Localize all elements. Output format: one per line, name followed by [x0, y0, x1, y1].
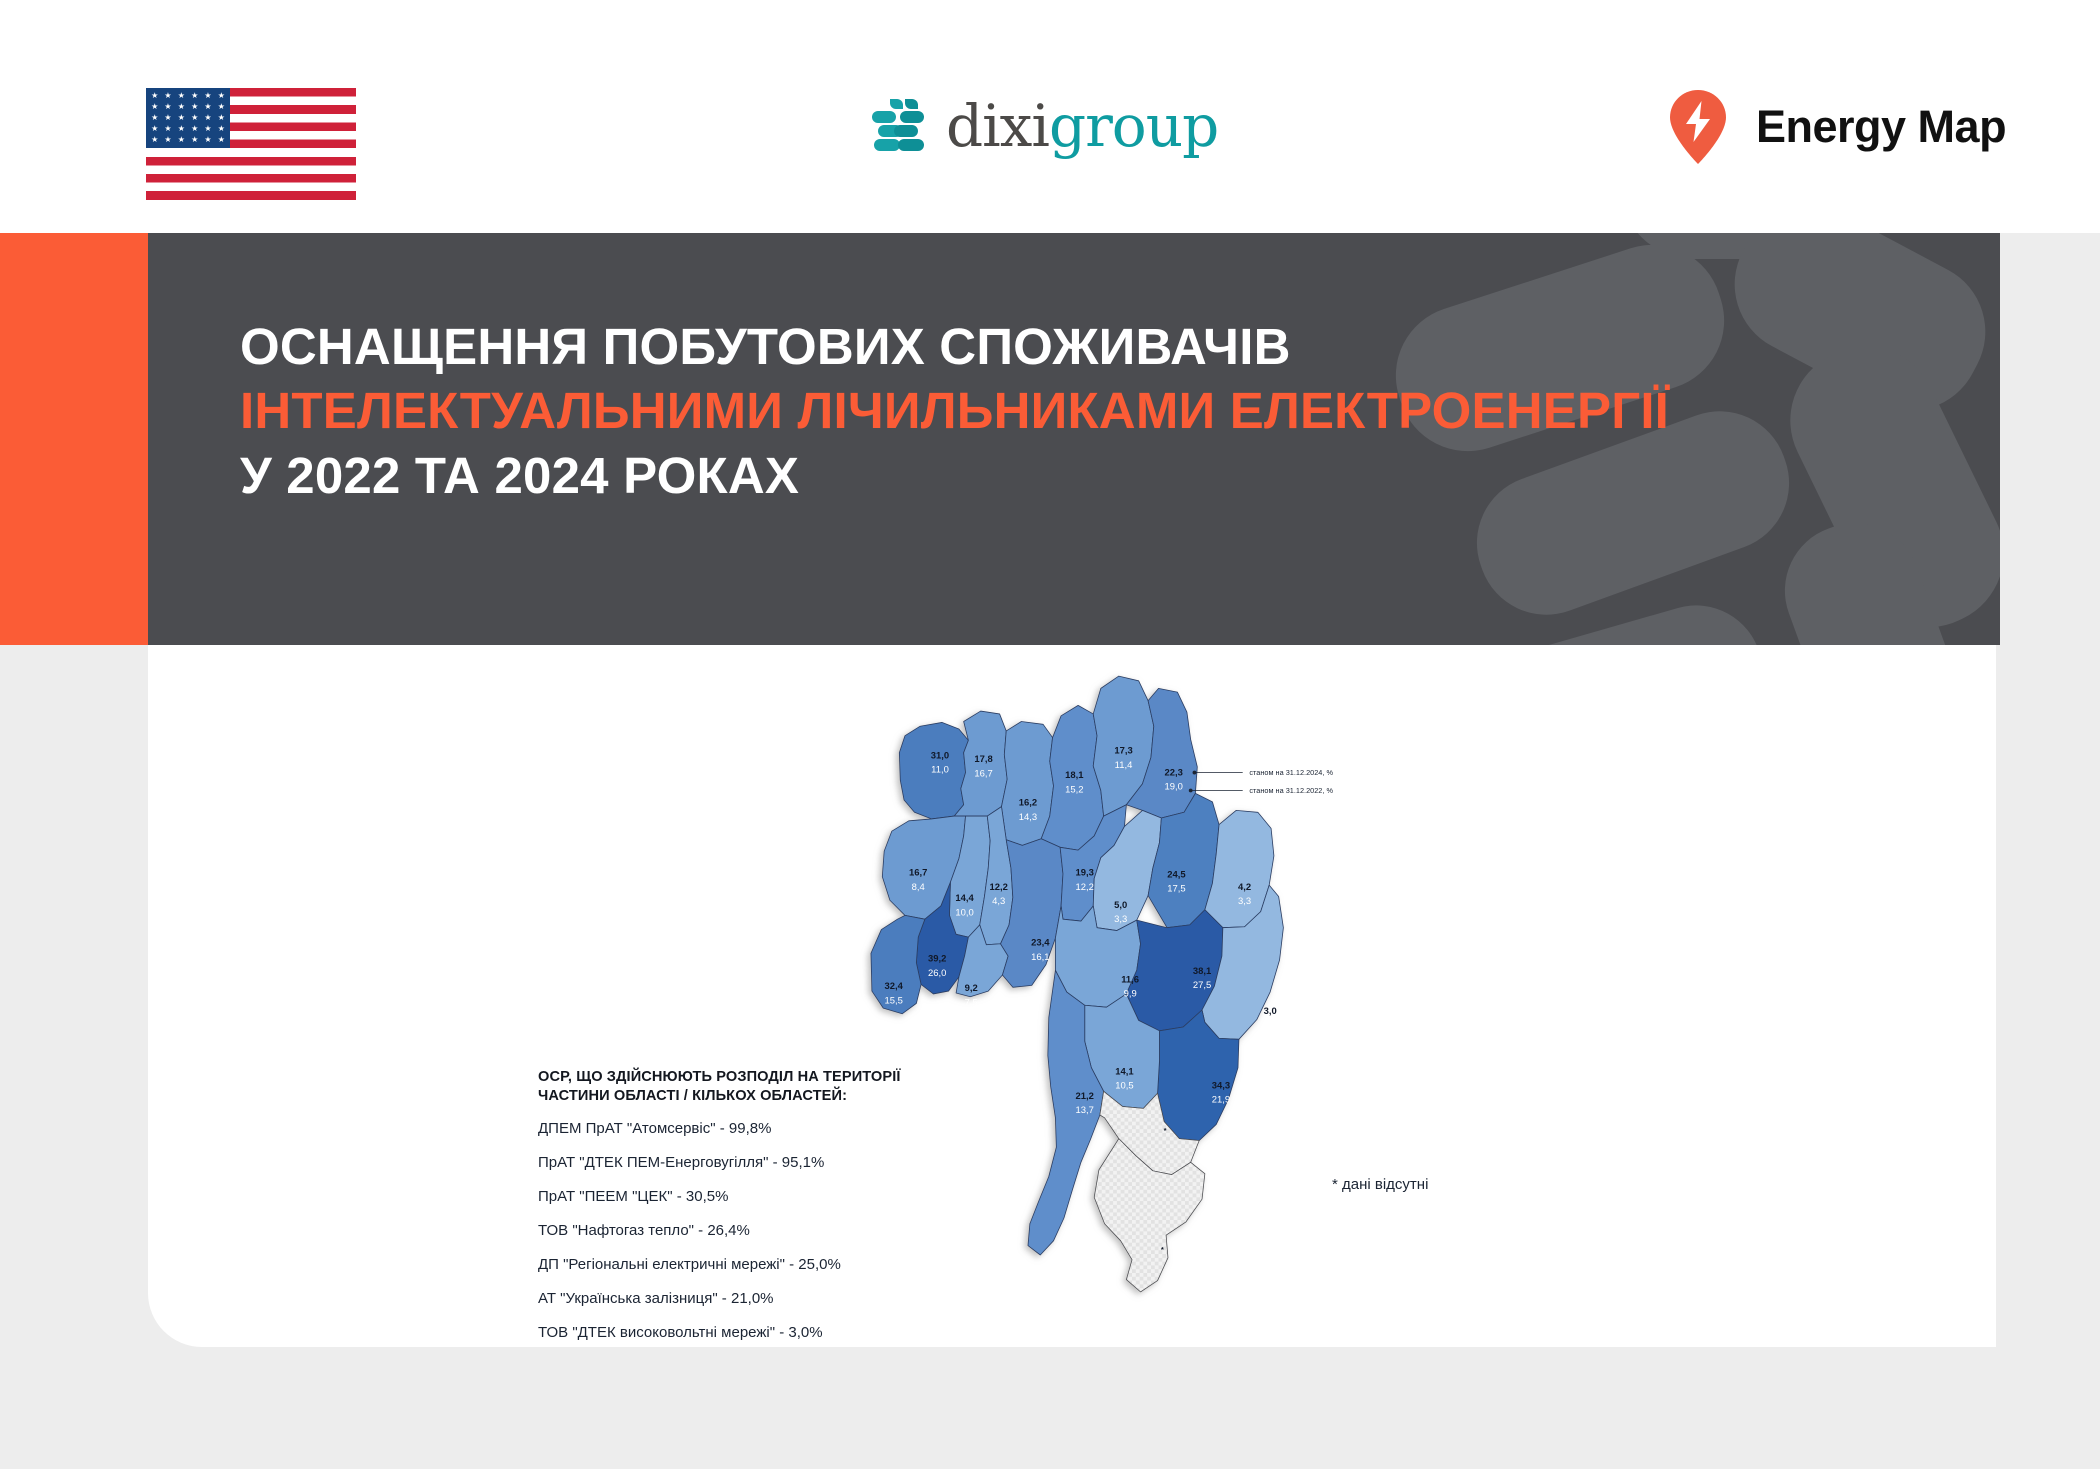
- lightning-pin-icon: [1666, 88, 1730, 166]
- svg-text:22,3: 22,3: [1164, 767, 1182, 778]
- dixigroup-mark-icon: [870, 95, 932, 157]
- svg-text:26,0: 26,0: [928, 968, 946, 979]
- svg-text:24,5: 24,5: [1167, 870, 1185, 881]
- operators-list: ДПЕМ ПрАТ "Атомсервіс" - 99,8% ПрАТ "ДТЕ…: [538, 1121, 958, 1340]
- svg-text:10,0: 10,0: [955, 907, 973, 918]
- energy-map-logo[interactable]: Energy Map: [1666, 88, 2006, 166]
- orange-accent-bar: [0, 233, 148, 645]
- dixi-text: dixi: [946, 92, 1049, 160]
- svg-text:31,0: 31,0: [931, 750, 949, 761]
- dixigroup-logo[interactable]: dixigroup: [870, 95, 1218, 157]
- svg-text:23,4: 23,4: [1031, 938, 1050, 949]
- svg-text:9,9: 9,9: [1124, 989, 1137, 1000]
- svg-text:21,2: 21,2: [1076, 1091, 1094, 1102]
- operator-item: ТОВ "ДТЕК високовольтні мережі" - 3,0%: [538, 1325, 958, 1340]
- svg-text:11,6: 11,6: [1121, 975, 1139, 986]
- svg-text:14,1: 14,1: [1115, 1066, 1133, 1077]
- svg-text:15,5: 15,5: [884, 995, 902, 1006]
- title-line-2: ІНТЕЛЕКТУАЛЬНИМИ ЛІЧИЛЬНИКАМИ ЕЛЕКТРОЕНЕ…: [240, 379, 1940, 443]
- svg-text:10,5: 10,5: [1115, 1081, 1133, 1092]
- svg-text:16,2: 16,2: [1019, 798, 1037, 809]
- svg-text:3,3: 3,3: [1114, 914, 1127, 925]
- svg-text:14,4: 14,4: [955, 893, 974, 904]
- svg-text:2,4: 2,4: [1264, 1020, 1277, 1031]
- energy-map-label: Energy Map: [1756, 101, 2006, 153]
- svg-text:21,9: 21,9: [1212, 1095, 1230, 1106]
- svg-text:16,7: 16,7: [909, 868, 927, 879]
- dixigroup-wordmark: dixigroup: [946, 97, 1218, 155]
- top-logo-bar: ★★★★★★ ★★★★★★ ★★★★★★ ★★★★★★ ★★★★★★: [0, 0, 2100, 233]
- svg-text:32,4: 32,4: [884, 981, 903, 992]
- svg-text:38,1: 38,1: [1193, 966, 1211, 977]
- svg-text:17,5: 17,5: [1167, 884, 1185, 895]
- operator-item: АТ "Українська залізниця" - 21,0%: [538, 1291, 958, 1306]
- svg-text:34,3: 34,3: [1212, 1081, 1230, 1092]
- svg-text:5,0: 5,0: [1114, 900, 1127, 911]
- legend-label-2022: станом на 31.12.2022, %: [1249, 786, 1333, 795]
- svg-text:4,2: 4,2: [1238, 882, 1251, 893]
- svg-text:9,2: 9,2: [965, 983, 978, 994]
- operator-item: ПрАТ "ПЕЕМ "ЦЕК" - 30,5%: [538, 1189, 958, 1204]
- operators-block: ОСР, ЩО ЗДІЙСНЮЮТЬ РОЗПОДІЛ НА ТЕРИТОРІЇ…: [538, 1068, 958, 1359]
- legend-label-2024: станом на 31.12.2024, %: [1249, 768, 1333, 777]
- svg-text:8,4: 8,4: [912, 882, 925, 893]
- svg-text:16,7: 16,7: [974, 768, 992, 779]
- svg-text:3,0: 3,0: [1264, 1006, 1277, 1017]
- svg-text:19,0: 19,0: [1164, 782, 1182, 793]
- group-text: group: [1049, 92, 1218, 160]
- svg-text:11,0: 11,0: [931, 765, 949, 776]
- operator-item: ТОВ "Нафтогаз тепло" - 26,4%: [538, 1223, 958, 1238]
- operators-title: ОСР, ЩО ЗДІЙСНЮЮТЬ РОЗПОДІЛ НА ТЕРИТОРІЇ…: [538, 1068, 958, 1107]
- title-line-3: У 2022 ТА 2024 РОКАХ: [240, 444, 1940, 508]
- svg-text:12,2: 12,2: [1076, 882, 1094, 893]
- no-data-footnote: * дані відсутні: [1332, 1176, 1428, 1193]
- svg-text:12,2: 12,2: [989, 882, 1007, 893]
- svg-text:17,3: 17,3: [1114, 746, 1132, 757]
- title-header-band: ОСНАЩЕННЯ ПОБУТОВИХ СПОЖИВАЧІВ ІНТЕЛЕКТУ…: [0, 233, 2000, 645]
- svg-text:18,1: 18,1: [1065, 770, 1083, 781]
- title-block: ОСНАЩЕННЯ ПОБУТОВИХ СПОЖИВАЧІВ ІНТЕЛЕКТУ…: [240, 315, 1940, 508]
- operator-item: ДПЕМ ПрАТ "Атомсервіс" - 99,8%: [538, 1121, 958, 1136]
- flag-canton: ★★★★★★ ★★★★★★ ★★★★★★ ★★★★★★ ★★★★★★: [146, 88, 230, 148]
- svg-text:19,3: 19,3: [1076, 868, 1094, 879]
- svg-text:15,2: 15,2: [1065, 784, 1083, 795]
- title-line-1: ОСНАЩЕННЯ ПОБУТОВИХ СПОЖИВАЧІВ: [240, 315, 1940, 379]
- svg-text:16,1: 16,1: [1031, 952, 1049, 963]
- operator-item: ПрАТ "ДТЕК ПЕМ-Енерговугілля" - 95,1%: [538, 1155, 958, 1170]
- svg-text:13,7: 13,7: [1076, 1105, 1094, 1116]
- svg-text:3,3: 3,3: [1238, 896, 1251, 907]
- svg-text:14,3: 14,3: [1019, 812, 1037, 823]
- svg-text:39,2: 39,2: [928, 954, 946, 965]
- operator-item: ДП "Регіональні електричні мережі" - 25,…: [538, 1257, 958, 1272]
- svg-text:*: *: [1164, 1126, 1167, 1135]
- us-flag-icon: ★★★★★★ ★★★★★★ ★★★★★★ ★★★★★★ ★★★★★★: [146, 88, 356, 200]
- svg-text:17,8: 17,8: [974, 754, 992, 765]
- svg-text:*: *: [1161, 1245, 1164, 1254]
- svg-text:4,3: 4,3: [992, 896, 1005, 907]
- svg-text:27,5: 27,5: [1193, 980, 1211, 991]
- svg-text:11,4: 11,4: [1115, 760, 1133, 771]
- svg-text:7,5: 7,5: [965, 997, 978, 1008]
